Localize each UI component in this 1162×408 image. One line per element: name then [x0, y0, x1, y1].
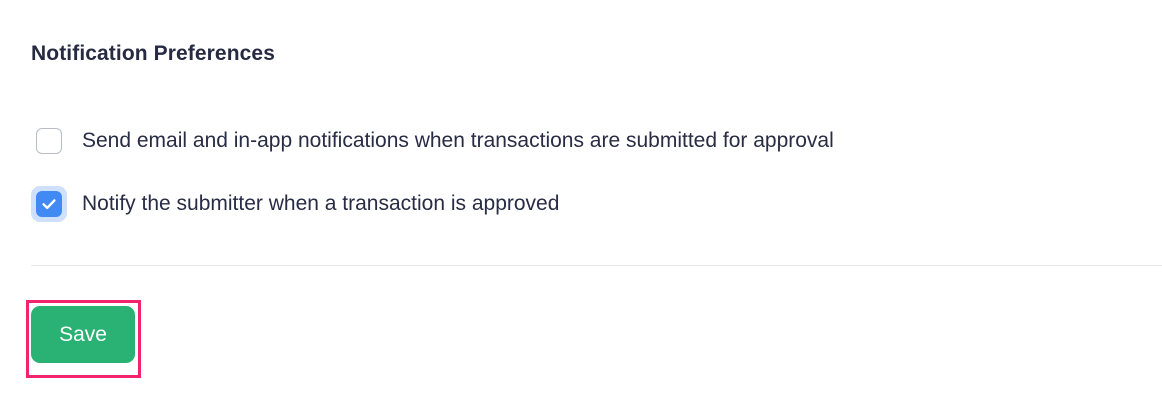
checkbox-row-notify-submitter[interactable]: Notify the submitter when a transaction … [31, 186, 559, 222]
checkbox-row-email-notifications[interactable]: Send email and in-app notifications when… [31, 123, 834, 159]
checkbox-unchecked-icon[interactable] [36, 128, 62, 154]
save-button[interactable]: Save [31, 306, 135, 363]
section-divider [31, 265, 1162, 266]
notification-preferences-panel: Notification Preferences Send email and … [0, 0, 1162, 408]
checkbox-focus-ring [31, 186, 67, 222]
page-title: Notification Preferences [31, 40, 275, 68]
checkbox-label-email-notifications: Send email and in-app notifications when… [82, 128, 834, 154]
checkbox-label-notify-submitter: Notify the submitter when a transaction … [82, 191, 559, 217]
checkbox-wrapper [31, 123, 67, 159]
checkbox-checked-icon[interactable] [36, 191, 62, 217]
